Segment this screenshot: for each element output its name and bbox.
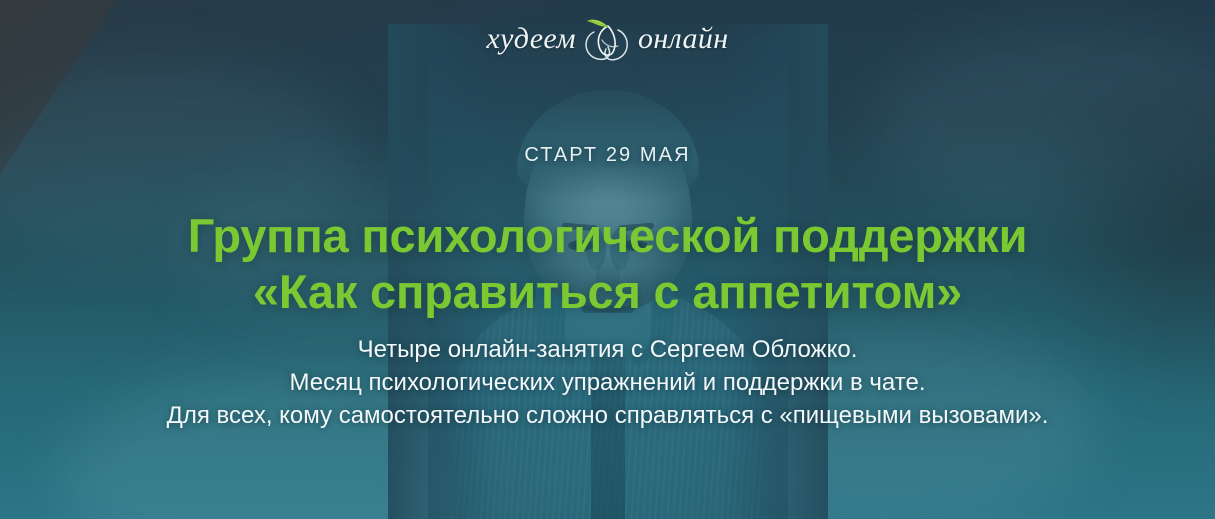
start-date-kicker: СТАРТ 29 МАЯ xyxy=(0,144,1215,167)
lead-line-2: Месяц психологических упражнений и подде… xyxy=(0,367,1215,400)
hero-description: Четыре онлайн-занятия с Сергеем Обложко.… xyxy=(0,334,1215,433)
lead-line-1: Четыре онлайн-занятия с Сергеем Обложко. xyxy=(0,334,1215,367)
lead-line-3: Для всех, кому самостоятельно сложно спр… xyxy=(0,400,1215,433)
headline-line-1: Группа психологической поддержки xyxy=(188,209,1028,262)
page-title: Группа психологической поддержки «Как сп… xyxy=(0,208,1215,320)
hero-content: СТАРТ 29 МАЯ Группа психологической подд… xyxy=(0,0,1215,519)
hero-banner: худеем онлайн СТАРТ 29 МАЯ Группа психол… xyxy=(0,0,1215,519)
headline-line-2: «Как справиться с аппетитом» xyxy=(0,264,1215,320)
